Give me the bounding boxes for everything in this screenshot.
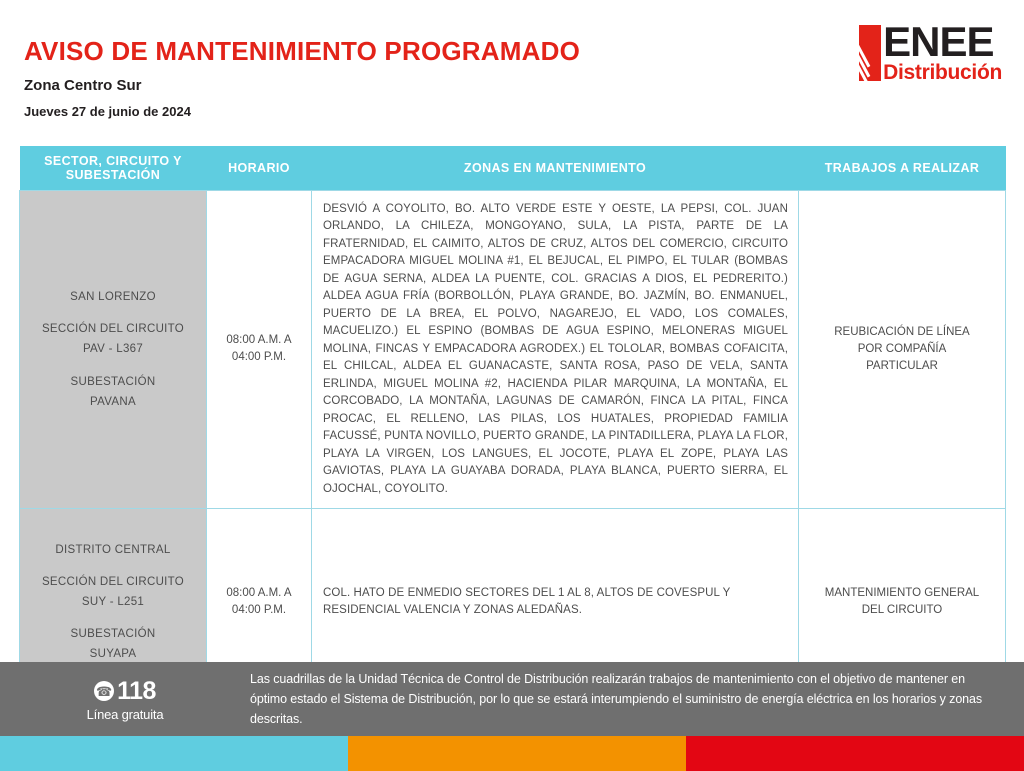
sector-name: SAN LORENZO bbox=[30, 287, 196, 307]
title-block: AVISO DE MANTENIMIENTO PROGRAMADO Zona C… bbox=[24, 36, 580, 119]
footer-hotline: ☎ 118 Línea gratuita bbox=[0, 677, 250, 722]
cell-sector: SAN LORENZO SECCIÓN DEL CIRCUITO PAV - L… bbox=[20, 191, 207, 509]
column-header-sector-line1: SECTOR, CIRCUITO Y bbox=[44, 154, 182, 168]
hotline-row: ☎ 118 bbox=[0, 677, 250, 706]
table-head: SECTOR, CIRCUITO Y SUBESTACIÓN HORARIO Z… bbox=[20, 146, 1006, 191]
sector-circuit-label: SECCIÓN DEL CIRCUITO bbox=[30, 319, 196, 339]
column-header-horario: HORARIO bbox=[207, 146, 312, 191]
page-footer: ☎ 118 Línea gratuita Las cuadrillas de l… bbox=[0, 662, 1024, 736]
logo-text: ENEE Distribución bbox=[883, 24, 1002, 83]
schedule-table: SECTOR, CIRCUITO Y SUBESTACIÓN HORARIO Z… bbox=[19, 146, 1006, 696]
page-header: AVISO DE MANTENIMIENTO PROGRAMADO Zona C… bbox=[0, 0, 1024, 140]
horario-line2: 04:00 P.M. bbox=[232, 604, 286, 616]
horario-line1: 08:00 A.M. A bbox=[226, 334, 291, 346]
sector-circuit-label: SECCIÓN DEL CIRCUITO bbox=[30, 572, 196, 592]
trabajos-line1: MANTENIMIENTO GENERAL bbox=[825, 587, 979, 599]
logo-mark-icon bbox=[859, 25, 881, 81]
sector-substation-label: SUBESTACIÓN bbox=[30, 624, 196, 644]
horario-line1: 08:00 A.M. A bbox=[226, 587, 291, 599]
table-header-row: SECTOR, CIRCUITO Y SUBESTACIÓN HORARIO Z… bbox=[20, 146, 1006, 191]
phone-icon: ☎ bbox=[94, 681, 114, 701]
color-segment-orange bbox=[348, 736, 686, 771]
sector-name: DISTRITO CENTRAL bbox=[30, 540, 196, 560]
footer-color-bar bbox=[0, 736, 1024, 771]
notice-date: Jueves 27 de junio de 2024 bbox=[24, 104, 580, 119]
cell-trabajos: REUBICACIÓN DE LÍNEA POR COMPAÑÍA PARTIC… bbox=[799, 191, 1006, 509]
logo-name: ENEE bbox=[883, 24, 1002, 60]
color-segment-cyan bbox=[0, 736, 348, 771]
footer-note: Las cuadrillas de la Unidad Técnica de C… bbox=[250, 669, 1024, 730]
trabajos-line2: POR COMPAÑÍA bbox=[858, 343, 947, 355]
color-segment-red bbox=[686, 736, 1024, 771]
horario-line2: 04:00 P.M. bbox=[232, 351, 286, 363]
trabajos-line3: PARTICULAR bbox=[866, 360, 938, 372]
schedule-table-wrapper: SECTOR, CIRCUITO Y SUBESTACIÓN HORARIO Z… bbox=[19, 146, 1005, 696]
column-header-sector: SECTOR, CIRCUITO Y SUBESTACIÓN bbox=[20, 146, 207, 191]
cell-zonas: DESVIÓ A COYOLITO, BO. ALTO VERDE ESTE Y… bbox=[312, 191, 799, 509]
trabajos-line1: REUBICACIÓN DE LÍNEA bbox=[834, 326, 969, 338]
sector-circuit-value: PAV - L367 bbox=[30, 339, 196, 359]
enee-logo: ENEE Distribución bbox=[859, 24, 1002, 83]
column-header-sector-line2: SUBESTACIÓN bbox=[66, 168, 160, 182]
hotline-label: Línea gratuita bbox=[0, 707, 250, 722]
page-title: AVISO DE MANTENIMIENTO PROGRAMADO bbox=[24, 36, 580, 67]
column-header-trabajos: TRABAJOS A REALIZAR bbox=[799, 146, 1006, 191]
sector-substation-value: PAVANA bbox=[30, 392, 196, 412]
table-body: SAN LORENZO SECCIÓN DEL CIRCUITO PAV - L… bbox=[20, 191, 1006, 696]
sector-substation-label: SUBESTACIÓN bbox=[30, 372, 196, 392]
zone-subtitle: Zona Centro Sur bbox=[24, 77, 580, 94]
trabajos-line2: DEL CIRCUITO bbox=[862, 604, 943, 616]
cell-horario: 08:00 A.M. A 04:00 P.M. bbox=[207, 191, 312, 509]
sector-circuit-value: SUY - L251 bbox=[30, 592, 196, 612]
hotline-number: 118 bbox=[117, 677, 156, 706]
table-row: SAN LORENZO SECCIÓN DEL CIRCUITO PAV - L… bbox=[20, 191, 1006, 509]
column-header-zonas: ZONAS EN MANTENIMIENTO bbox=[312, 146, 799, 191]
logo-tagline: Distribución bbox=[883, 62, 1002, 83]
